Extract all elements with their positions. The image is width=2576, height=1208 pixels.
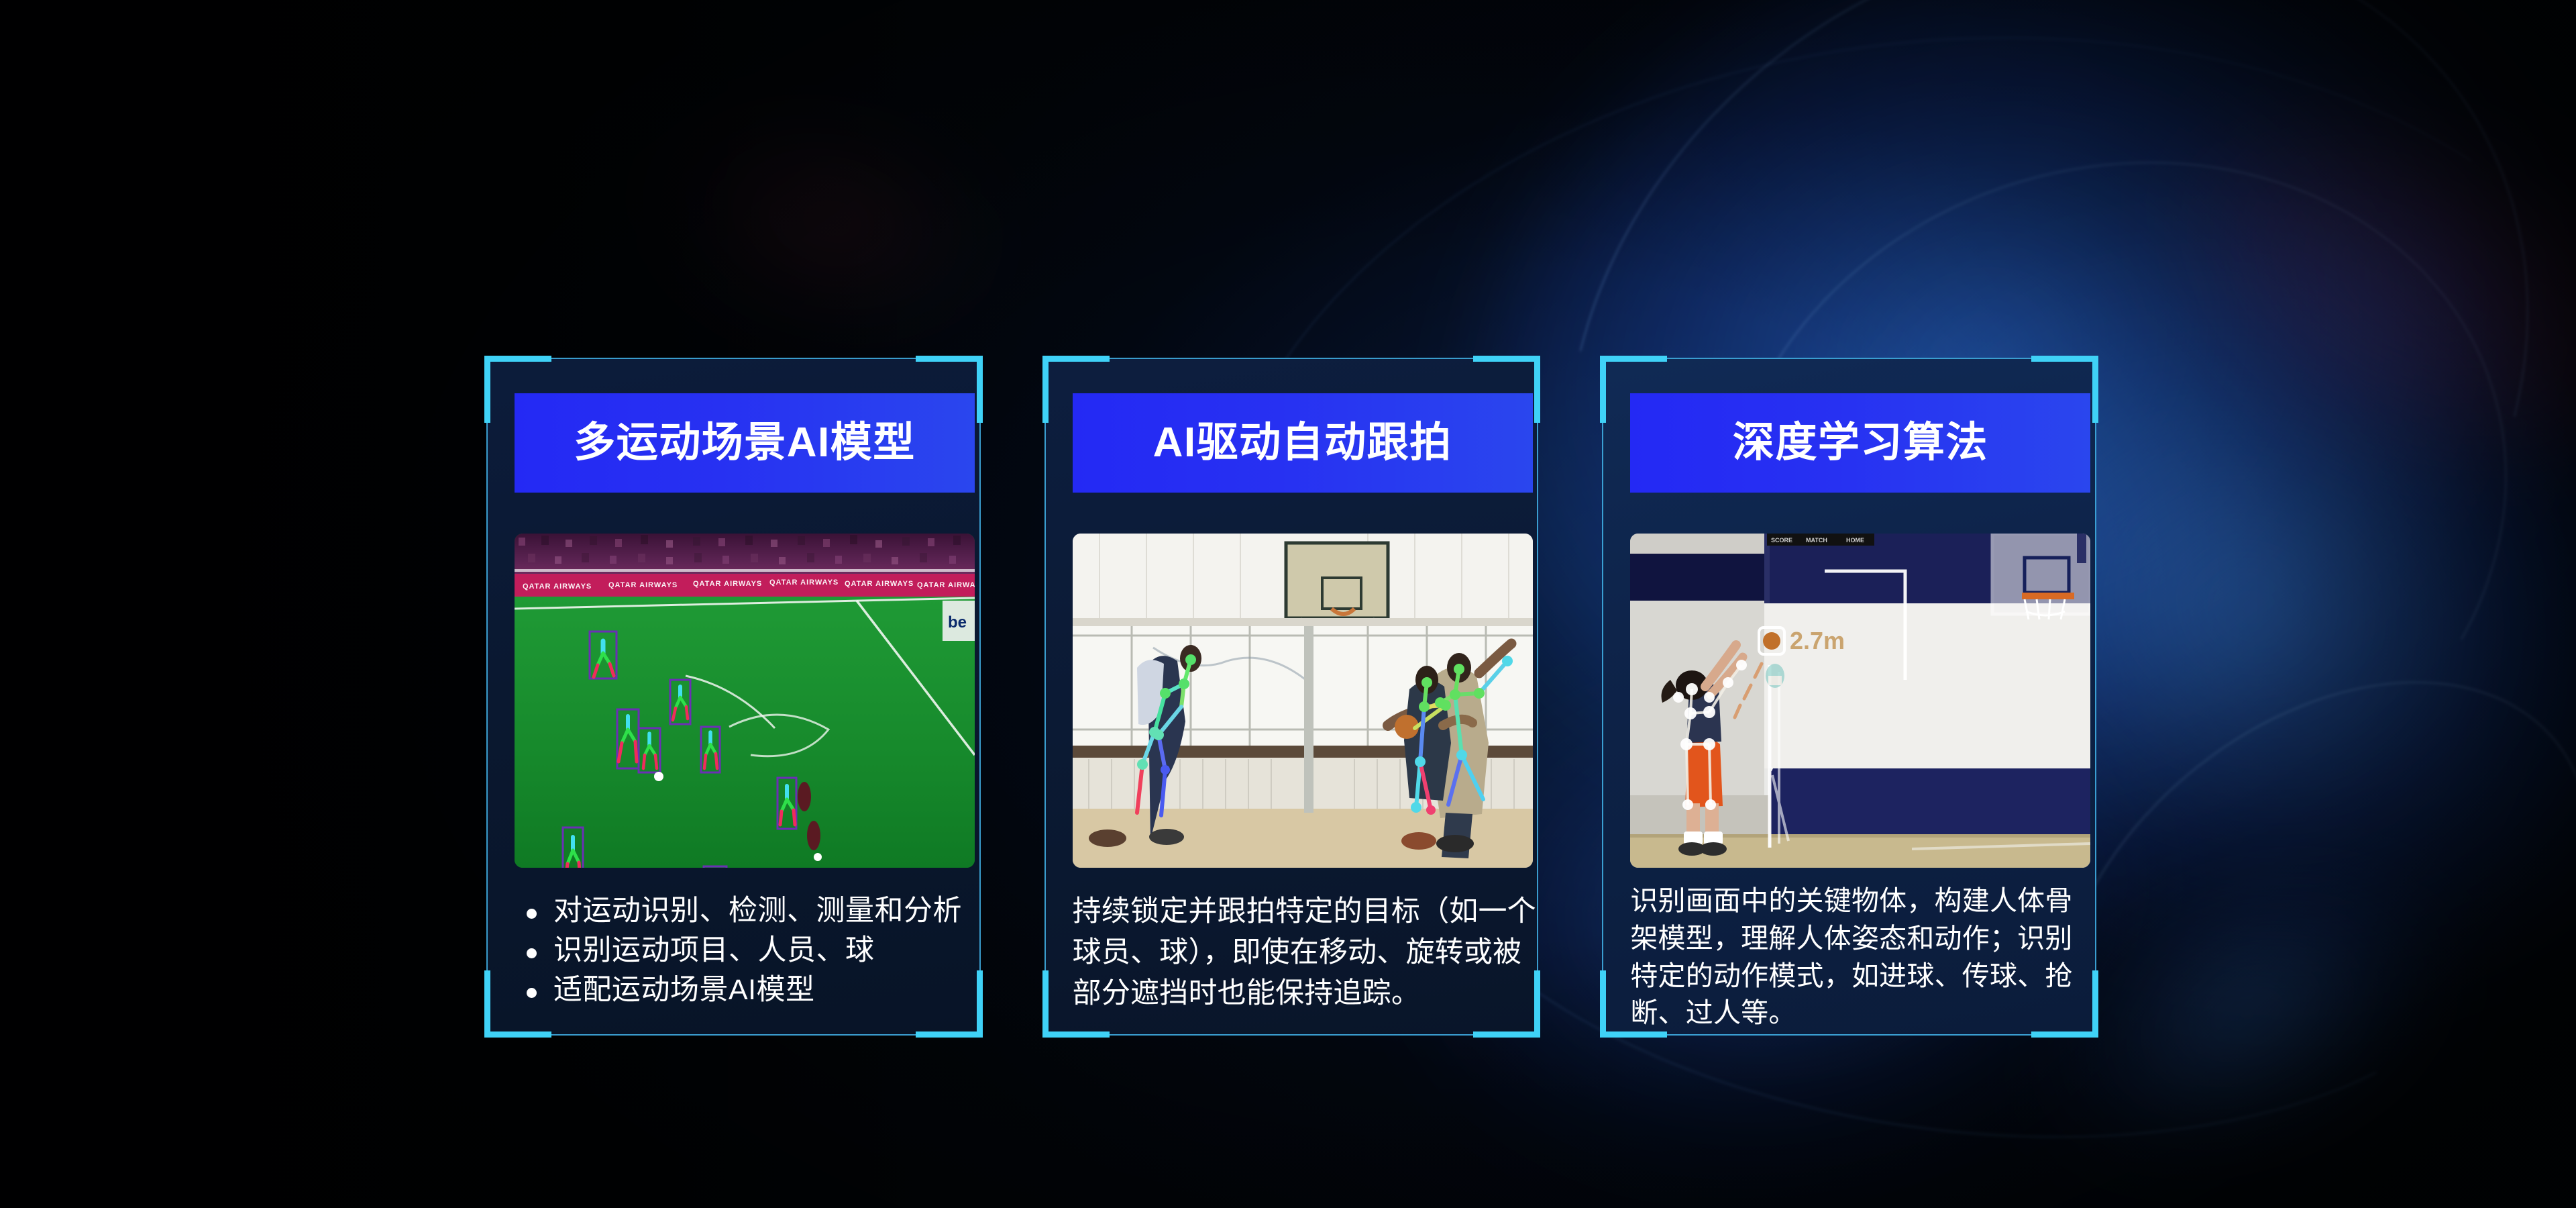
list-item: 适配运动场景AI模型 [515, 970, 984, 1010]
feature-bullet-list: 对运动识别、检测、测量和分析 识别运动项目、人员、球 适配运动场景AI模型 [515, 891, 984, 1010]
slide-canvas: 多运动场景AI模型 [0, 0, 2576, 1208]
svg-text:QATAR AIRWAYS: QATAR AIRWAYS [523, 583, 592, 591]
svg-text:QATAR AIRWAYS: QATAR AIRWAYS [608, 581, 678, 589]
list-item: 对运动识别、检测、测量和分析 [515, 891, 984, 931]
feature-card-ai-auto-tracking[interactable]: AI驱动自动跟拍 [1044, 358, 1539, 1036]
svg-text:SCORE: SCORE [1771, 537, 1792, 544]
basketball-gym-illustration [1073, 534, 1533, 868]
svg-text:QATAR AIRWAYS: QATAR AIRWAYS [845, 580, 914, 588]
feature-card-row: 多运动场景AI模型 [486, 358, 2096, 1036]
card-header-banner: 深度学习算法 [1630, 393, 2090, 493]
card-body: 识别画面中的关键物体，构建人体骨架模型，理解人体姿态和动作；识别特定的动作模式，… [1630, 883, 2100, 1032]
card-title: AI驱动自动跟拍 [1153, 422, 1452, 464]
svg-text:be: be [948, 613, 967, 632]
card-body: 持续锁定并跟拍特定的目标（如一个球员、球），即使在移动、旋转或被部分遮挡时也能保… [1073, 891, 1542, 1014]
card-header-banner: AI驱动自动跟拍 [1073, 393, 1533, 493]
list-item: 识别运动项目、人员、球 [515, 931, 984, 970]
basketball-gym-pose-thumbnail[interactable] [1073, 534, 1533, 868]
card-body: 对运动识别、检测、测量和分析 识别运动项目、人员、球 适配运动场景AI模型 [515, 891, 984, 1010]
soccer-pose-detection-thumbnail[interactable]: QATAR AIRWAYSQATAR AIRWAYS QATAR AIRWAYS… [515, 534, 975, 868]
svg-text:MATCH: MATCH [1806, 537, 1827, 544]
svg-text:QATAR AIRWAYS: QATAR AIRWAYS [769, 578, 839, 587]
card-title: 多运动场景AI模型 [574, 422, 916, 464]
svg-text:2.7m: 2.7m [1790, 627, 1845, 654]
svg-text:QATAR AIRWAYS: QATAR AIRWAYS [693, 580, 762, 588]
card-title: 深度学习算法 [1733, 422, 1988, 464]
card-header-banner: 多运动场景AI模型 [515, 393, 975, 493]
feature-card-sports-ai-model[interactable]: 多运动场景AI模型 [486, 358, 981, 1036]
basketball-shot-tracking-thumbnail[interactable]: SCOREMATCHHOME [1630, 534, 2090, 868]
feature-card-deep-learning[interactable]: 深度学习算法 SCOREMATCHHOME [1602, 358, 2096, 1036]
svg-text:HOME: HOME [1846, 537, 1864, 544]
shot-tracking-illustration: SCOREMATCHHOME [1630, 534, 2090, 868]
svg-text:QATAR AIRWAYS: QATAR AIRWAYS [917, 581, 975, 589]
soccer-scene-illustration: QATAR AIRWAYSQATAR AIRWAYS QATAR AIRWAYS… [515, 534, 975, 868]
feature-paragraph: 持续锁定并跟拍特定的目标（如一个球员、球），即使在移动、旋转或被部分遮挡时也能保… [1073, 891, 1542, 1014]
feature-paragraph: 识别画面中的关键物体，构建人体骨架模型，理解人体姿态和动作；识别特定的动作模式，… [1630, 883, 2100, 1032]
